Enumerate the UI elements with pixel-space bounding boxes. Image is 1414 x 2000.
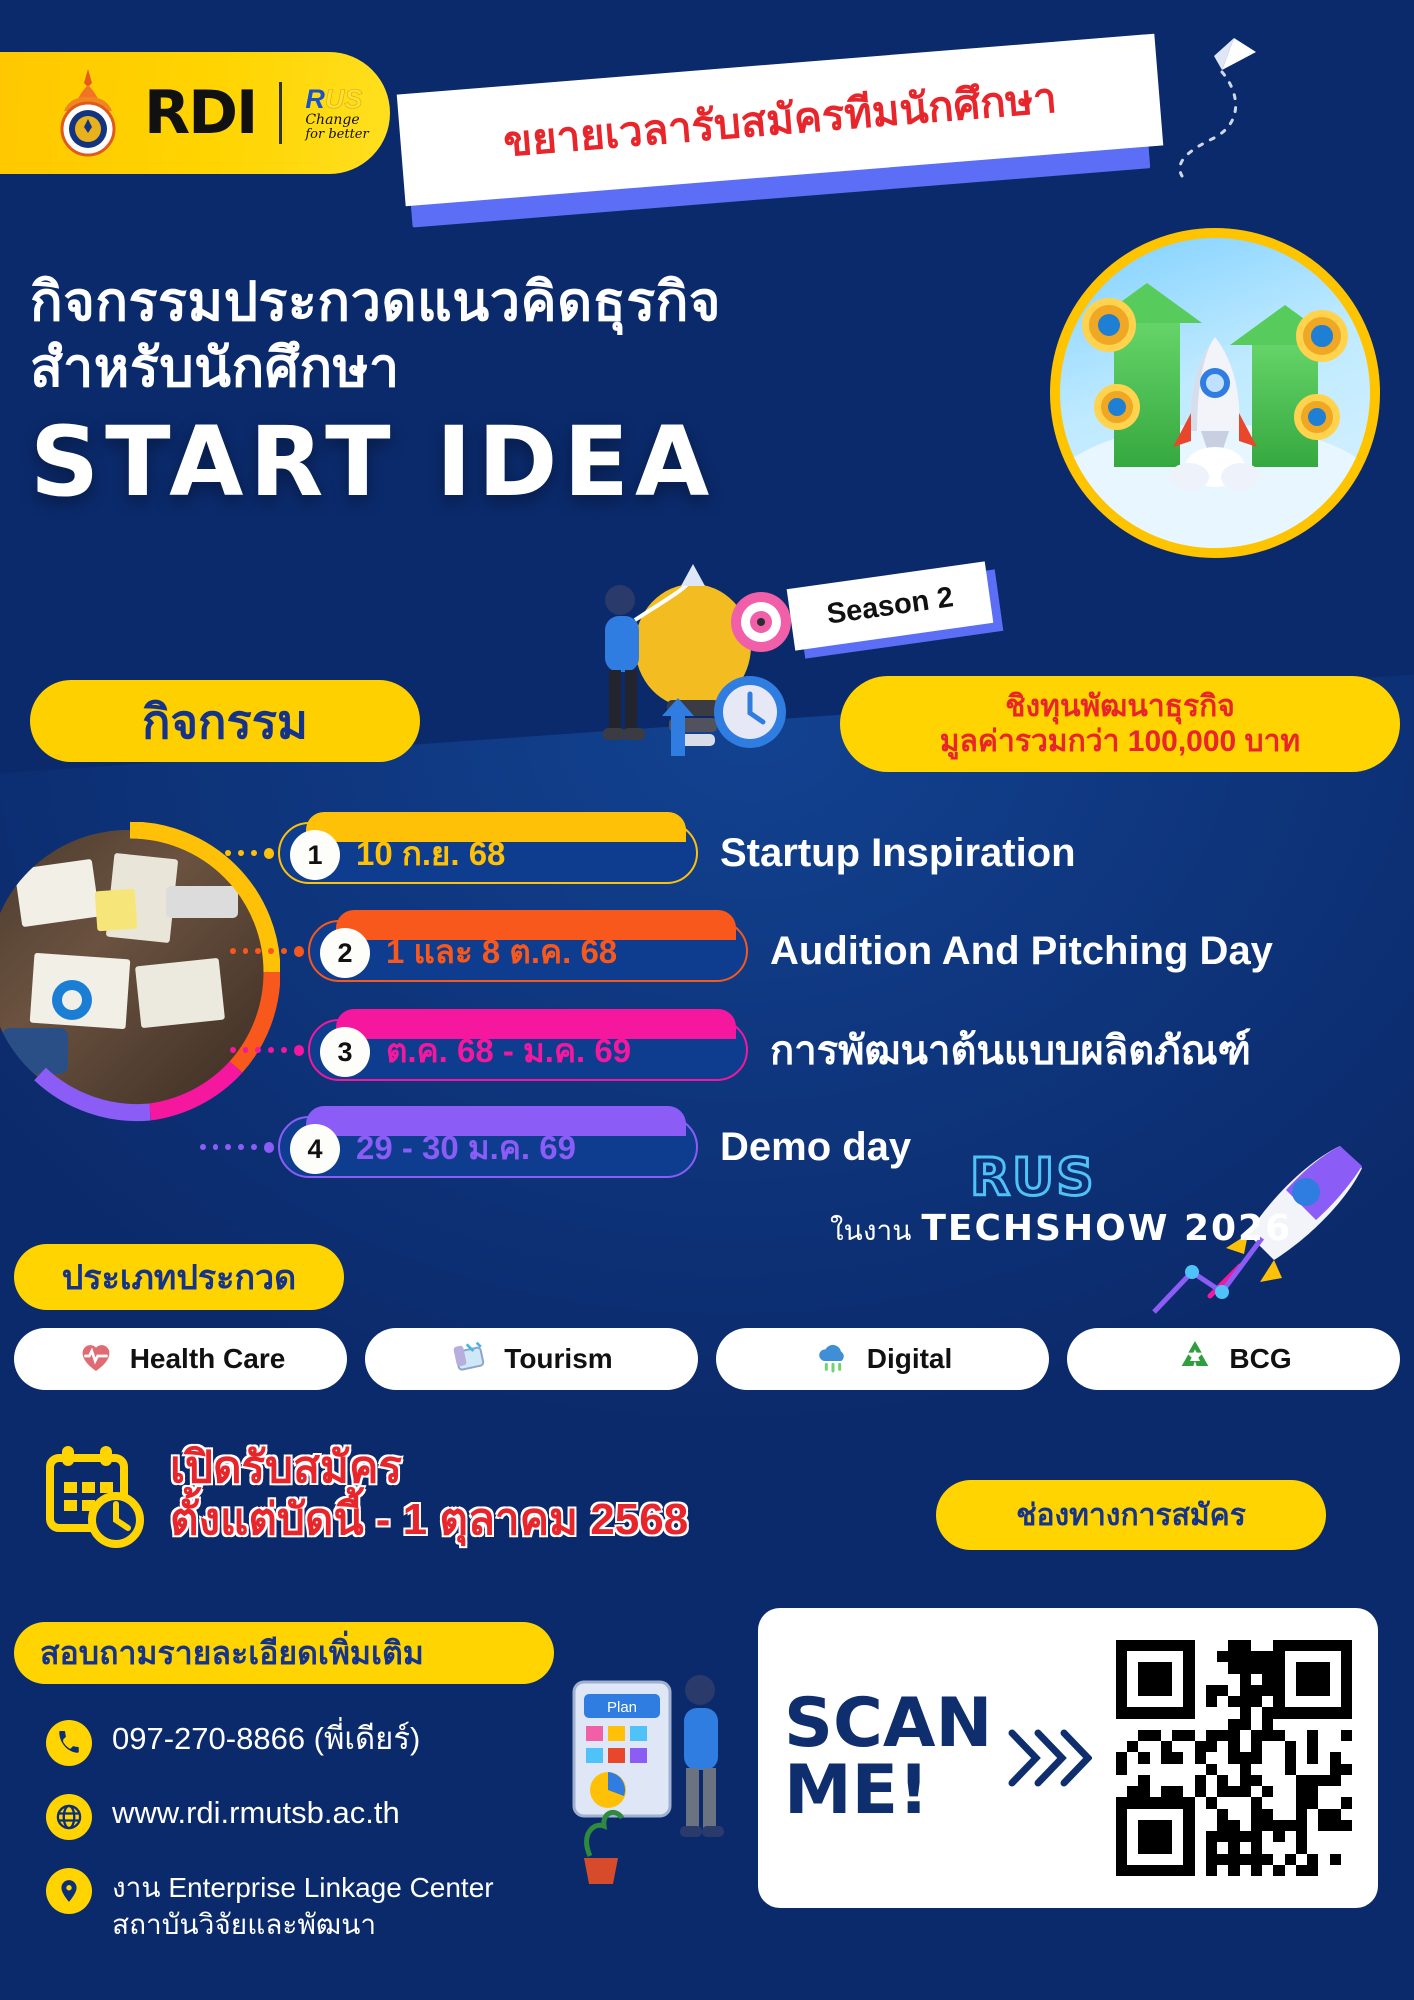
qr-cell — [1172, 1730, 1183, 1741]
qr-cell — [1217, 1730, 1228, 1741]
timeline-title: Startup Inspiration — [720, 831, 1076, 876]
qr-cell — [1206, 1775, 1217, 1786]
qr-cell — [1116, 1640, 1127, 1651]
qr-cell — [1150, 1865, 1161, 1876]
qr-cell — [1150, 1854, 1161, 1865]
qr-cell — [1172, 1707, 1183, 1718]
qr-cell — [1172, 1752, 1183, 1763]
qr-cell — [1183, 1842, 1194, 1853]
qr-cell — [1172, 1854, 1183, 1865]
qr-cell — [1127, 1730, 1138, 1741]
contact-website[interactable]: www.rdi.rmutsb.ac.th — [46, 1794, 494, 1840]
qr-cell — [1172, 1786, 1183, 1797]
qr-cell — [1217, 1662, 1228, 1673]
qr-cell — [1217, 1764, 1228, 1775]
paper-plane-icon — [1144, 30, 1264, 180]
qr-cell — [1251, 1775, 1262, 1786]
qr-cell — [1330, 1831, 1341, 1842]
qr-cell — [1251, 1854, 1262, 1865]
qr-cell — [1273, 1820, 1284, 1831]
contact-heading-label: สอบถามรายละเอียดเพิ่มเติม — [40, 1628, 424, 1679]
qr-cell — [1195, 1775, 1206, 1786]
contact-phone[interactable]: 097-270-8866 (พี่เดียร์) — [46, 1720, 494, 1766]
qr-cell — [1127, 1831, 1138, 1842]
qr-cell — [1150, 1696, 1161, 1707]
qr-cell — [1138, 1831, 1149, 1842]
qr-cell — [1150, 1752, 1161, 1763]
qr-cell — [1206, 1831, 1217, 1842]
qr-cell — [1273, 1662, 1284, 1673]
qr-cell — [1285, 1764, 1296, 1775]
qr-cell — [1138, 1797, 1149, 1808]
qr-cell — [1195, 1674, 1206, 1685]
category-pill[interactable]: Health Care — [14, 1328, 347, 1390]
qr-cell — [1240, 1865, 1251, 1876]
qr-cell — [1341, 1741, 1352, 1752]
recycle-icon — [1175, 1336, 1215, 1383]
qr-cell — [1116, 1831, 1127, 1842]
qr-cell — [1240, 1786, 1251, 1797]
category-heading-label: ประเภทประกวด — [62, 1250, 296, 1304]
qr-cell — [1240, 1696, 1251, 1707]
qr-cell — [1172, 1696, 1183, 1707]
scan-qr-card[interactable]: SCAN ME! — [758, 1608, 1378, 1908]
qr-cell — [1307, 1809, 1318, 1820]
qr-cell — [1273, 1640, 1284, 1651]
qr-cell — [1296, 1651, 1307, 1662]
qr-cell — [1262, 1730, 1273, 1741]
qr-cell — [1307, 1820, 1318, 1831]
qr-cell — [1273, 1707, 1284, 1718]
qr-cell — [1228, 1775, 1239, 1786]
qr-cell — [1228, 1797, 1239, 1808]
qr-cell — [1138, 1752, 1149, 1763]
qr-cell — [1285, 1775, 1296, 1786]
qr-cell — [1262, 1831, 1273, 1842]
qr-cell — [1296, 1741, 1307, 1752]
qr-cell — [1285, 1786, 1296, 1797]
qr-cell — [1172, 1662, 1183, 1673]
qr-cell — [1127, 1786, 1138, 1797]
season-label: Season 2 — [825, 581, 956, 631]
qr-cell — [1251, 1719, 1262, 1730]
qr-cell — [1195, 1786, 1206, 1797]
category-pill[interactable]: Digital — [716, 1328, 1049, 1390]
timeline-row: 429 - 30 ม.ค. 69Demo day — [200, 1116, 911, 1178]
qr-cell — [1330, 1752, 1341, 1763]
qr-cell — [1228, 1865, 1239, 1876]
qr-cell — [1341, 1662, 1352, 1673]
qr-cell — [1127, 1865, 1138, 1876]
qr-cell — [1296, 1662, 1307, 1673]
contact-address-text: งาน Enterprise Linkage Center สถาบันวิจั… — [112, 1868, 494, 1942]
prize-badge: ชิงทุนพัฒนาธุรกิจ มูลค่ารวมกว่า 100,000 … — [840, 676, 1400, 772]
qr-cell — [1150, 1707, 1161, 1718]
qr-cell — [1195, 1842, 1206, 1853]
qr-cell — [1262, 1865, 1273, 1876]
qr-cell — [1341, 1797, 1352, 1808]
apply-channel-badge[interactable]: ช่องทางการสมัคร — [936, 1480, 1326, 1550]
qr-cell — [1341, 1786, 1352, 1797]
timeline-pill: 3ต.ค. 68 - ม.ค. 69 — [308, 1019, 748, 1081]
qr-cell — [1318, 1809, 1329, 1820]
qr-cell — [1228, 1640, 1239, 1651]
qr-cell — [1285, 1685, 1296, 1696]
qr-cell — [1183, 1685, 1194, 1696]
qr-cell — [1206, 1854, 1217, 1865]
qr-cell — [1341, 1764, 1352, 1775]
timeline-dots — [200, 848, 274, 858]
qr-cell — [1307, 1719, 1318, 1730]
qr-cell — [1183, 1674, 1194, 1685]
qr-cell — [1217, 1640, 1228, 1651]
qr-cell — [1172, 1775, 1183, 1786]
qr-cell — [1127, 1741, 1138, 1752]
qr-cell — [1183, 1730, 1194, 1741]
qr-cell — [1273, 1854, 1284, 1865]
poster-root: ขยายเวลารับสมัครทีมนักศึกษา RDI RUS Chan… — [0, 0, 1414, 2000]
qr-cell — [1273, 1752, 1284, 1763]
qr-cell — [1240, 1640, 1251, 1651]
qr-cell — [1318, 1775, 1329, 1786]
qr-cell — [1296, 1719, 1307, 1730]
qr-cell — [1318, 1696, 1329, 1707]
qr-cell — [1150, 1741, 1161, 1752]
qr-cell — [1251, 1831, 1262, 1842]
qr-cell — [1127, 1685, 1138, 1696]
qr-cell — [1251, 1842, 1262, 1853]
qr-cell — [1172, 1831, 1183, 1842]
scan-text: SCAN ME! — [784, 1691, 992, 1824]
qr-cell — [1217, 1752, 1228, 1763]
svg-text:Plan: Plan — [607, 1699, 637, 1716]
qr-cell — [1150, 1820, 1161, 1831]
apply-channel-label: ช่องทางการสมัคร — [1016, 1492, 1246, 1539]
qr-cell — [1195, 1831, 1206, 1842]
qr-cell — [1296, 1707, 1307, 1718]
qr-cell — [1116, 1741, 1127, 1752]
qr-cell — [1262, 1674, 1273, 1685]
timeline-step-number: 4 — [290, 1124, 340, 1174]
qr-cell — [1195, 1741, 1206, 1752]
qr-cell — [1195, 1797, 1206, 1808]
qr-cell — [1127, 1820, 1138, 1831]
qr-cell — [1150, 1775, 1161, 1786]
qr-cell — [1217, 1707, 1228, 1718]
qr-cell — [1206, 1820, 1217, 1831]
qr-cell — [1195, 1730, 1206, 1741]
qr-cell — [1217, 1820, 1228, 1831]
qr-cell — [1307, 1651, 1318, 1662]
contact-website-text: www.rdi.rmutsb.ac.th — [112, 1794, 400, 1831]
qr-cell — [1138, 1696, 1149, 1707]
qr-cell — [1318, 1685, 1329, 1696]
qr-cell — [1318, 1719, 1329, 1730]
qr-cell — [1296, 1786, 1307, 1797]
qr-cell — [1251, 1786, 1262, 1797]
category-label: Health Care — [130, 1343, 286, 1375]
qr-cell — [1217, 1775, 1228, 1786]
contact-phone-text: 097-270-8866 (พี่เดียร์) — [112, 1720, 420, 1757]
qr-cell — [1206, 1842, 1217, 1853]
qr-cell — [1217, 1719, 1228, 1730]
qr-cell — [1251, 1640, 1262, 1651]
qr-cell — [1228, 1741, 1239, 1752]
qr-cell — [1273, 1775, 1284, 1786]
timeline-date: 29 - 30 ม.ค. 69 — [356, 1121, 576, 1174]
qr-cell — [1138, 1865, 1149, 1876]
qr-cell — [1330, 1696, 1341, 1707]
qr-cell — [1307, 1685, 1318, 1696]
qr-cell — [1273, 1685, 1284, 1696]
qr-cell — [1251, 1865, 1262, 1876]
techshow-line: ในงาน TECHSHOW 2026 — [830, 1208, 1292, 1253]
qr-cell — [1296, 1865, 1307, 1876]
qr-cell — [1262, 1797, 1273, 1808]
qr-cell — [1195, 1662, 1206, 1673]
qr-cell — [1183, 1719, 1194, 1730]
category-label: Tourism — [504, 1343, 612, 1375]
qr-cell — [1296, 1696, 1307, 1707]
qr-cell — [1228, 1685, 1239, 1696]
qr-cell — [1195, 1809, 1206, 1820]
lightbulb-illustration — [575, 560, 805, 760]
qr-cell — [1273, 1786, 1284, 1797]
qr-cell — [1307, 1707, 1318, 1718]
qr-cell — [1195, 1764, 1206, 1775]
qr-cell — [1217, 1809, 1228, 1820]
qr-cell — [1262, 1696, 1273, 1707]
qr-cell — [1183, 1775, 1194, 1786]
qr-cell — [1172, 1820, 1183, 1831]
qr-cell — [1296, 1730, 1307, 1741]
category-pill[interactable]: Tourism — [365, 1328, 698, 1390]
qr-cell — [1262, 1685, 1273, 1696]
prize-line-2: มูลค่ารวมกว่า 100,000 บาท — [940, 724, 1300, 759]
qr-cell — [1161, 1674, 1172, 1685]
qr-cell — [1195, 1696, 1206, 1707]
qr-cell — [1228, 1707, 1239, 1718]
timeline-title: Demo day — [720, 1125, 911, 1170]
qr-cell — [1318, 1820, 1329, 1831]
timeline-step-number: 2 — [320, 928, 370, 978]
qr-cell — [1273, 1809, 1284, 1820]
qr-cell — [1330, 1842, 1341, 1853]
qr-cell — [1161, 1775, 1172, 1786]
qr-cell — [1296, 1809, 1307, 1820]
qr-cell — [1341, 1775, 1352, 1786]
qr-cell — [1251, 1730, 1262, 1741]
techshow-prefix: ในงาน — [830, 1209, 911, 1253]
qr-cell — [1228, 1831, 1239, 1842]
qr-cell — [1251, 1797, 1262, 1808]
qr-cell — [1240, 1764, 1251, 1775]
qr-cell — [1161, 1707, 1172, 1718]
timeline-date: 1 และ 8 ต.ค. 68 — [386, 925, 617, 978]
qr-cell — [1273, 1741, 1284, 1752]
qr-cell — [1273, 1865, 1284, 1876]
qr-cell — [1150, 1809, 1161, 1820]
qr-cell — [1262, 1752, 1273, 1763]
qr-cell — [1228, 1842, 1239, 1853]
qr-cell — [1228, 1786, 1239, 1797]
qr-cell — [1318, 1854, 1329, 1865]
qr-cell — [1161, 1786, 1172, 1797]
qr-cell — [1251, 1707, 1262, 1718]
qr-cell — [1318, 1640, 1329, 1651]
qr-cell — [1262, 1775, 1273, 1786]
qr-cell — [1138, 1707, 1149, 1718]
qr-cell — [1183, 1640, 1194, 1651]
timeline-date: 10 ก.ย. 68 — [356, 827, 505, 880]
qr-cell — [1240, 1820, 1251, 1831]
qr-cell — [1273, 1651, 1284, 1662]
qr-cell — [1172, 1842, 1183, 1853]
qr-cell — [1296, 1775, 1307, 1786]
qr-cell — [1172, 1865, 1183, 1876]
qr-cell — [1330, 1786, 1341, 1797]
qr-cell — [1318, 1842, 1329, 1853]
qr-cell — [1285, 1809, 1296, 1820]
qr-cell — [1262, 1854, 1273, 1865]
qr-cell — [1195, 1752, 1206, 1763]
qr-cell — [1285, 1820, 1296, 1831]
qr-cell — [1341, 1831, 1352, 1842]
qr-cell — [1116, 1865, 1127, 1876]
rdi-logo-plate: RDI RUS Change for better — [0, 52, 390, 174]
qr-code[interactable] — [1116, 1640, 1352, 1876]
qr-cell — [1138, 1719, 1149, 1730]
university-seal-icon — [46, 67, 130, 159]
qr-cell — [1138, 1662, 1149, 1673]
qr-cell — [1228, 1674, 1239, 1685]
qr-cell — [1228, 1820, 1239, 1831]
qr-cell — [1330, 1764, 1341, 1775]
qr-cell — [1206, 1741, 1217, 1752]
qr-cell — [1116, 1651, 1127, 1662]
timeline-title: Audition And Pitching Day — [770, 929, 1273, 974]
qr-cell — [1228, 1854, 1239, 1865]
qr-cell — [1195, 1865, 1206, 1876]
qr-cell — [1183, 1752, 1194, 1763]
phone-icon — [46, 1720, 92, 1766]
qr-cell — [1161, 1764, 1172, 1775]
qr-cell — [1172, 1764, 1183, 1775]
qr-cell — [1307, 1741, 1318, 1752]
qr-cell — [1172, 1719, 1183, 1730]
category-pill[interactable]: BCG — [1067, 1328, 1400, 1390]
timeline-date: ต.ค. 68 - ม.ค. 69 — [386, 1024, 631, 1077]
qr-cell — [1262, 1786, 1273, 1797]
qr-cell — [1341, 1820, 1352, 1831]
qr-cell — [1307, 1775, 1318, 1786]
qr-cell — [1116, 1809, 1127, 1820]
qr-cell — [1217, 1685, 1228, 1696]
qr-cell — [1116, 1842, 1127, 1853]
qr-cell — [1138, 1640, 1149, 1651]
qr-cell — [1240, 1854, 1251, 1865]
qr-cell — [1285, 1651, 1296, 1662]
qr-cell — [1206, 1809, 1217, 1820]
qr-cell — [1341, 1685, 1352, 1696]
apply-line-2: ตั้งแต่บัดนี้ - 1 ตุลาคม 2568 — [170, 1494, 688, 1546]
qr-cell — [1172, 1797, 1183, 1808]
qr-cell — [1127, 1797, 1138, 1808]
title-block: กิจกรรมประกวดแนวคิดธุรกิจ สำหรับนักศึกษา… — [30, 270, 721, 513]
qr-cell — [1138, 1685, 1149, 1696]
qr-cell — [1251, 1662, 1262, 1673]
qr-cell — [1318, 1797, 1329, 1808]
qr-cell — [1341, 1854, 1352, 1865]
timeline-pill: 429 - 30 ม.ค. 69 — [278, 1116, 698, 1178]
category-list: Health CareTourismDigitalBCG — [14, 1328, 1400, 1390]
qr-cell — [1116, 1764, 1127, 1775]
qr-cell — [1330, 1730, 1341, 1741]
qr-cell — [1296, 1752, 1307, 1763]
qr-cell — [1206, 1730, 1217, 1741]
qr-cell — [1228, 1719, 1239, 1730]
qr-cell — [1240, 1842, 1251, 1853]
qr-cell — [1285, 1640, 1296, 1651]
qr-cell — [1307, 1786, 1318, 1797]
qr-cell — [1341, 1696, 1352, 1707]
qr-cell — [1251, 1651, 1262, 1662]
logo-divider — [279, 82, 282, 144]
qr-cell — [1240, 1662, 1251, 1673]
qr-cell — [1127, 1842, 1138, 1853]
qr-cell — [1127, 1640, 1138, 1651]
qr-cell — [1318, 1865, 1329, 1876]
rus-demo-text: RUS — [970, 1148, 1096, 1208]
qr-cell — [1330, 1640, 1341, 1651]
qr-cell — [1161, 1820, 1172, 1831]
qr-cell — [1341, 1865, 1352, 1876]
qr-cell — [1285, 1865, 1296, 1876]
qr-cell — [1150, 1685, 1161, 1696]
qr-cell — [1262, 1809, 1273, 1820]
rdi-wordmark: RDI — [144, 83, 256, 143]
rus-tagline-2: for better — [305, 128, 368, 142]
qr-cell — [1285, 1831, 1296, 1842]
qr-cell — [1183, 1809, 1194, 1820]
chevron-right-icon — [1006, 1723, 1092, 1793]
qr-cell — [1138, 1775, 1149, 1786]
qr-cell — [1285, 1662, 1296, 1673]
qr-cell — [1240, 1719, 1251, 1730]
qr-cell — [1296, 1797, 1307, 1808]
rus-us: US — [325, 84, 363, 114]
qr-cell — [1307, 1696, 1318, 1707]
qr-cell — [1161, 1809, 1172, 1820]
announcement-text: ขยายเวลารับสมัครทีมนักศึกษา — [501, 65, 1059, 175]
qr-cell — [1341, 1809, 1352, 1820]
qr-cell — [1161, 1854, 1172, 1865]
qr-cell — [1127, 1662, 1138, 1673]
rocket-growth-illustration — [1050, 228, 1380, 558]
qr-cell — [1183, 1764, 1194, 1775]
qr-cell — [1138, 1809, 1149, 1820]
qr-cell — [1262, 1764, 1273, 1775]
qr-cell — [1307, 1752, 1318, 1763]
qr-cell — [1138, 1741, 1149, 1752]
apply-period: เปิดรับสมัคร ตั้งแต่บัดนี้ - 1 ตุลาคม 25… — [40, 1440, 688, 1548]
qr-cell — [1240, 1752, 1251, 1763]
qr-cell — [1183, 1820, 1194, 1831]
address-line-2: สถาบันวิจัยและพัฒนา — [112, 1909, 376, 1940]
qr-cell — [1296, 1831, 1307, 1842]
qr-cell — [1273, 1842, 1284, 1853]
qr-cell — [1150, 1640, 1161, 1651]
